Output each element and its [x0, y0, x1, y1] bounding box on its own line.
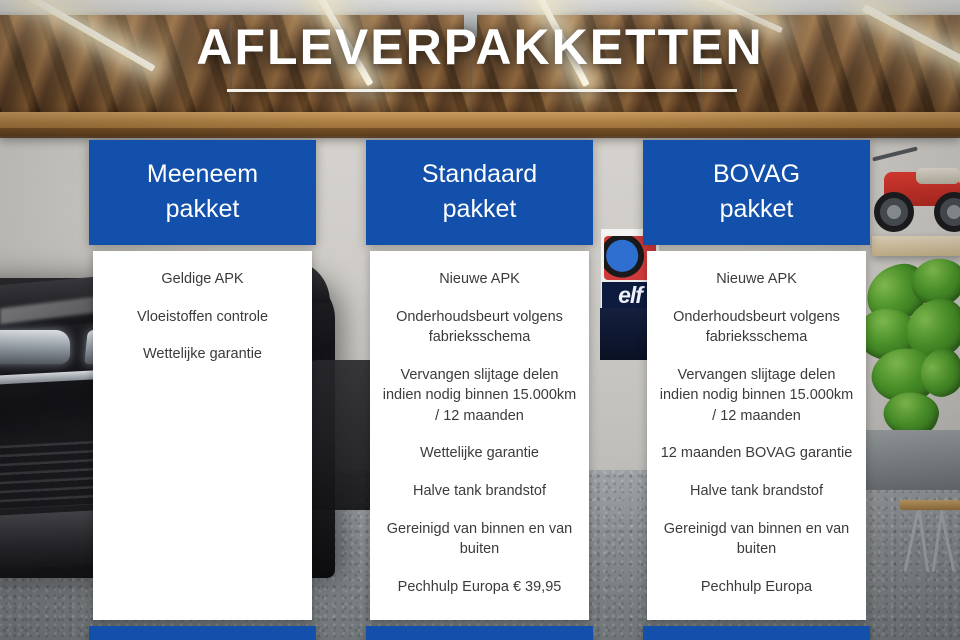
feature-item: Vervangen slijtage delen indien nodig bi… — [659, 365, 854, 427]
feature-item: Vloeistoffen controle — [105, 307, 300, 328]
package-header: BOVAG pakket — [643, 140, 870, 245]
feature-item: Wettelijke garantie — [105, 344, 300, 365]
feature-item: Onderhoudsbeurt volgens fabrieksschema — [659, 307, 854, 348]
package-features: Nieuwe APK Onderhoudsbeurt volgens fabri… — [370, 251, 589, 620]
feature-item: Nieuwe APK — [382, 269, 577, 290]
title-divider — [227, 89, 737, 92]
feature-item: Geldige APK — [105, 269, 300, 290]
page-title: AFLEVERPAKKETTEN — [0, 18, 960, 76]
package-price[interactable]: € 0,- — [89, 626, 316, 640]
package-card-meeneem[interactable]: Meeneem pakket Geldige APK Vloeistoffen … — [89, 140, 316, 640]
package-card-bovag[interactable]: BOVAG pakket Nieuwe APK Onderhoudsbeurt … — [643, 140, 870, 640]
package-header: Standaard pakket — [366, 140, 593, 245]
feature-item: Wettelijke garantie — [382, 443, 577, 464]
package-card-standaard[interactable]: Standaard pakket Nieuwe APK Onderhoudsbe… — [366, 140, 593, 640]
package-name-line1: Meeneem — [99, 157, 306, 192]
feature-item: Halve tank brandstof — [659, 481, 854, 502]
package-features: Nieuwe APK Onderhoudsbeurt volgens fabri… — [647, 251, 866, 620]
package-price[interactable]: € 395,- — [366, 626, 593, 640]
package-cards: Meeneem pakket Geldige APK Vloeistoffen … — [89, 140, 871, 640]
package-name-line1: BOVAG — [653, 157, 860, 192]
feature-item: Gereinigd van binnen en van buiten — [382, 519, 577, 560]
package-header: Meeneem pakket — [89, 140, 316, 245]
package-name-line2: pakket — [653, 192, 860, 227]
feature-item: Halve tank brandstof — [382, 481, 577, 502]
feature-item: Onderhoudsbeurt volgens fabrieksschema — [382, 307, 577, 348]
package-name-line2: pakket — [376, 192, 583, 227]
page-root: elf AFLEVERPAKKE — [0, 0, 960, 640]
feature-item: Nieuwe APK — [659, 269, 854, 290]
feature-item: Vervangen slijtage delen indien nodig bi… — [382, 365, 577, 427]
package-name-line1: Standaard — [376, 157, 583, 192]
feature-item: Pechhulp Europa — [659, 577, 854, 598]
feature-item: 12 maanden BOVAG garantie — [659, 443, 854, 464]
package-features: Geldige APK Vloeistoffen controle Wettel… — [93, 251, 312, 620]
feature-item: Pechhulp Europa € 39,95 — [382, 577, 577, 598]
package-name-line2: pakket — [99, 192, 306, 227]
package-price[interactable]: € 695,- — [643, 626, 870, 640]
feature-item: Gereinigd van binnen en van buiten — [659, 519, 854, 560]
